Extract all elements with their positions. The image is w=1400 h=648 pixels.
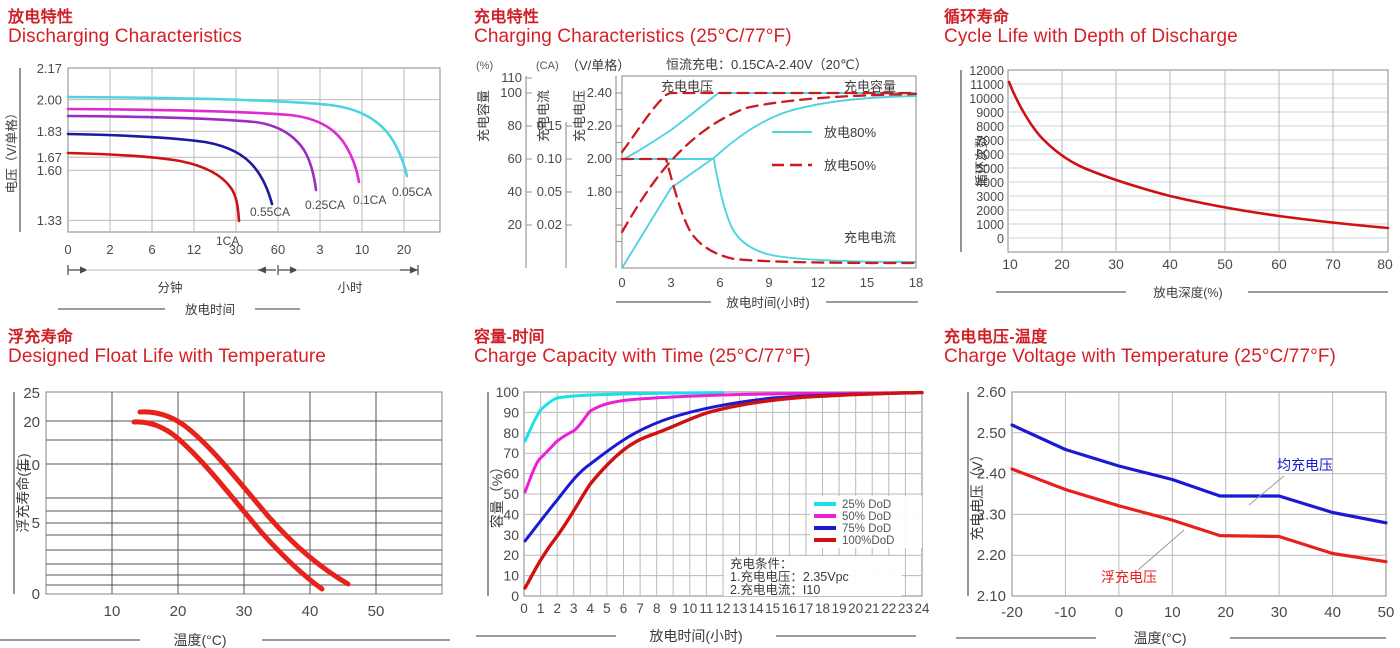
panel-discharging-characteristics: 放电特性 Discharging Characteristics <box>0 0 466 320</box>
legend: 25% DoD 50% DoD 75% DoD 100%DoD <box>810 496 922 548</box>
charge-condition-note: 充电条件： 1.充电电压：2.35Vpc 2.充电电流：I10 <box>724 556 902 597</box>
legend-label-0: 放电80% <box>824 125 876 140</box>
svg-text:0.10: 0.10 <box>537 151 562 166</box>
svg-text:60: 60 <box>503 466 519 482</box>
svg-text:2000: 2000 <box>976 204 1004 218</box>
legend-label-0: 25% DoD <box>842 499 891 511</box>
panel-title-en: Charge Capacity with Time (25°C/77°F) <box>474 346 811 368</box>
svg-text:19: 19 <box>832 601 847 616</box>
svg-text:0: 0 <box>618 275 625 290</box>
svg-text:80: 80 <box>508 118 522 133</box>
y-axis-ticks: 2.17 2.00 1.83 1.67 1.60 1.33 <box>37 61 62 228</box>
legend-label-1: 放电50% <box>824 158 876 173</box>
svg-text:1CA: 1CA <box>216 234 239 248</box>
svg-text:0.15: 0.15 <box>537 118 562 133</box>
svg-text:2.40: 2.40 <box>587 85 612 100</box>
svg-text:4: 4 <box>587 601 595 616</box>
chart-charge-capacity: 100 90 80 70 60 50 40 30 20 10 0 0 1 2 3… <box>466 378 936 648</box>
svg-text:11: 11 <box>699 601 713 616</box>
panel-charging-characteristics: 充电特性 Charging Characteristics (25°C/77°F… <box>466 0 936 320</box>
y-axis-2-name: 充电电流 <box>536 90 551 142</box>
svg-text:-20: -20 <box>1001 604 1023 621</box>
x-axis-ticks: 0 1 2 3 4 5 6 7 8 9 10 11 12 13 14 15 16… <box>520 601 930 616</box>
svg-text:21: 21 <box>865 601 880 616</box>
svg-text:20: 20 <box>503 547 519 563</box>
x-axis-label: 放电时间 <box>185 302 235 317</box>
x-axis-ticks: 10 20 30 40 50 <box>104 603 385 620</box>
svg-text:2: 2 <box>106 242 113 257</box>
svg-text:24: 24 <box>914 601 930 616</box>
svg-text:2.50: 2.50 <box>977 425 1006 442</box>
svg-text:12: 12 <box>187 242 201 257</box>
svg-text:2.20: 2.20 <box>587 118 612 133</box>
panel-title-cn: 循环寿命 <box>944 3 1009 27</box>
svg-text:40: 40 <box>1324 604 1341 621</box>
svg-text:30: 30 <box>236 603 253 620</box>
svg-text:30: 30 <box>1271 604 1288 621</box>
annotation-charge-voltage: 充电电压 <box>661 79 713 94</box>
svg-text:90: 90 <box>503 404 519 420</box>
svg-text:0: 0 <box>64 242 71 257</box>
svg-text:0.05: 0.05 <box>537 184 562 199</box>
svg-text:60: 60 <box>508 151 522 166</box>
svg-text:3: 3 <box>316 242 323 257</box>
gridlines-vertical <box>1065 392 1332 596</box>
legend: 放电80% 放电50% <box>772 125 876 173</box>
svg-text:10: 10 <box>1002 256 1018 272</box>
svg-text:15: 15 <box>765 601 780 616</box>
svg-text:100: 100 <box>500 85 522 100</box>
svg-text:20: 20 <box>1054 256 1070 272</box>
range-indicators <box>68 265 418 275</box>
svg-text:40: 40 <box>503 506 519 522</box>
svg-text:16: 16 <box>782 601 797 616</box>
panel-charge-capacity: 容量-时间 Charge Capacity with Time (25°C/77… <box>466 320 936 648</box>
svg-text:0.55CA: 0.55CA <box>250 205 290 219</box>
panel-title-cn: 充电特性 <box>474 3 539 27</box>
svg-text:20: 20 <box>848 601 863 616</box>
y-axis-voltage-tickmarks <box>616 93 622 242</box>
panel-cycle-life: 循环寿命 Cycle Life with Depth of Discharge … <box>936 0 1400 320</box>
svg-text:50: 50 <box>503 486 519 502</box>
svg-text:20: 20 <box>397 242 411 257</box>
svg-text:6: 6 <box>148 242 155 257</box>
svg-text:1.60: 1.60 <box>37 163 62 178</box>
annotation-charge-capacity: 充电容量 <box>844 79 896 94</box>
svg-text:13: 13 <box>732 601 747 616</box>
svg-text:1.83: 1.83 <box>37 124 62 139</box>
svg-text:0.1CA: 0.1CA <box>353 193 386 207</box>
legend-label-1: 50% DoD <box>842 511 891 523</box>
svg-text:7: 7 <box>636 601 644 616</box>
svg-text:5: 5 <box>603 601 611 616</box>
svg-text:10: 10 <box>1164 604 1181 621</box>
svg-text:30: 30 <box>503 527 519 543</box>
svg-text:10: 10 <box>503 568 519 584</box>
svg-text:2.20: 2.20 <box>977 547 1006 564</box>
curve-cycle-life <box>1009 82 1388 228</box>
svg-text:0: 0 <box>1115 604 1123 621</box>
svg-text:0.05CA: 0.05CA <box>392 185 432 199</box>
svg-text:40: 40 <box>508 184 522 199</box>
gridlines-horizontal <box>1008 84 1388 238</box>
note-line-0: 充电条件： <box>730 556 793 571</box>
svg-text:6: 6 <box>716 275 723 290</box>
svg-text:11000: 11000 <box>970 78 1004 92</box>
svg-text:18: 18 <box>815 601 830 616</box>
svg-text:30: 30 <box>1108 256 1124 272</box>
annotation-float: 浮充电压 <box>1101 530 1184 585</box>
x-axis-label: 温度(°C) <box>173 632 226 648</box>
curve-055ca <box>68 134 272 204</box>
svg-text:20: 20 <box>170 603 187 620</box>
y-axis-3-name: 充电电压 <box>572 90 587 142</box>
svg-text:40: 40 <box>302 603 319 620</box>
panel-title-cn: 放电特性 <box>8 3 73 27</box>
annotation-charge-current: 充电电流 <box>844 230 896 245</box>
x-axis-label: 放电深度(%) <box>1153 285 1222 300</box>
svg-text:12000: 12000 <box>969 64 1004 78</box>
svg-text:25: 25 <box>23 385 40 402</box>
charts-grid: 放电特性 Discharging Characteristics <box>0 0 1400 648</box>
svg-text:50: 50 <box>1378 604 1395 621</box>
svg-text:2: 2 <box>553 601 561 616</box>
curve-float-voltage <box>1012 469 1386 562</box>
svg-text:-10: -10 <box>1055 604 1077 621</box>
plot-frame <box>1012 392 1386 596</box>
svg-text:23: 23 <box>898 601 913 616</box>
y-axis-label: 电压（V/单格） <box>4 107 19 194</box>
svg-text:110: 110 <box>501 70 522 85</box>
svg-text:1.80: 1.80 <box>587 184 612 199</box>
chart-float-life: 25 20 10 5 0 10 20 30 40 50 浮充寿命(年) 温度(°… <box>0 378 466 648</box>
svg-text:40: 40 <box>1162 256 1178 272</box>
svg-text:0: 0 <box>520 601 528 616</box>
svg-text:0: 0 <box>511 588 519 604</box>
x-axis-ticks: -20 -10 0 10 20 30 40 50 <box>1001 604 1394 621</box>
svg-text:1000: 1000 <box>976 218 1004 232</box>
svg-text:0.02: 0.02 <box>537 217 562 232</box>
panel-title-en: Cycle Life with Depth of Discharge <box>944 26 1238 48</box>
svg-text:2.17: 2.17 <box>37 61 62 76</box>
curve-1ca <box>68 153 239 221</box>
x-axis-label: 放电时间(小时) <box>726 295 809 310</box>
svg-text:（V/单格）: （V/单格） <box>566 58 630 73</box>
svg-text:9: 9 <box>765 275 772 290</box>
svg-text:15: 15 <box>860 275 874 290</box>
y-axis-label: 充电电压（V） <box>969 447 985 540</box>
svg-text:8: 8 <box>653 601 661 616</box>
svg-text:9: 9 <box>669 601 677 616</box>
svg-text:60: 60 <box>1271 256 1287 272</box>
note-line-1: 1.充电电压：2.35Vpc <box>730 569 849 584</box>
y-axis-voltage-ticks: 2.40 2.20 2.00 1.80 <box>587 85 612 199</box>
panel-float-life: 浮充寿命 Designed Float Life with Temperatur… <box>0 320 466 648</box>
svg-text:9000: 9000 <box>976 106 1004 120</box>
svg-text:(%): (%) <box>476 60 493 72</box>
svg-text:3: 3 <box>570 601 578 616</box>
x-axis-ticks: 0 3 6 9 12 15 18 <box>618 275 923 290</box>
svg-text:3000: 3000 <box>976 190 1004 204</box>
svg-text:17: 17 <box>798 601 813 616</box>
y-axis-label: 循环次数 <box>974 135 989 187</box>
y-axis-label: 容量（%） <box>489 460 505 528</box>
panel-charge-voltage-temperature: 充电电压-温度 Charge Voltage with Temperature … <box>936 320 1400 648</box>
xband-right-label: 小时 <box>337 281 363 295</box>
svg-text:60: 60 <box>271 242 285 257</box>
xband-left-label: 分钟 <box>157 280 182 295</box>
svg-text:3: 3 <box>667 275 674 290</box>
svg-text:14: 14 <box>749 601 765 616</box>
svg-text:2.00: 2.00 <box>37 93 62 108</box>
svg-text:20: 20 <box>508 217 522 232</box>
svg-text:20: 20 <box>23 414 40 431</box>
svg-text:2.10: 2.10 <box>977 588 1006 605</box>
axis-units: (%) (CA) （V/单格） <box>476 58 630 73</box>
svg-text:12: 12 <box>715 601 730 616</box>
curve-50-current <box>622 159 916 263</box>
gridlines-vertical <box>1062 70 1333 252</box>
svg-text:80: 80 <box>503 425 519 441</box>
panel-title-cn: 浮充寿命 <box>8 323 73 347</box>
svg-text:1.33: 1.33 <box>37 213 62 228</box>
svg-text:22: 22 <box>881 601 896 616</box>
curve-50-voltage <box>622 93 916 152</box>
chart-charge-voltage: 2.60 2.50 2.40 2.30 2.20 2.10 -20 -10 0 … <box>936 378 1400 648</box>
chart-charging: 恒流充电：0.15CA-2.40V（20℃） (%) (CA) （V/单格） 充… <box>466 56 936 318</box>
svg-text:6: 6 <box>620 601 628 616</box>
svg-text:70: 70 <box>503 445 519 461</box>
svg-text:80: 80 <box>1377 256 1393 272</box>
x-axis-label: 放电时间(小时) <box>649 628 742 644</box>
annotation-equalize: 均充电压 <box>1249 457 1333 505</box>
svg-text:10: 10 <box>104 603 121 620</box>
panel-title-en: Charging Characteristics (25°C/77°F) <box>474 26 792 48</box>
svg-text:0: 0 <box>997 232 1004 246</box>
svg-text:(CA): (CA) <box>536 60 559 72</box>
panel-title-en: Charge Voltage with Temperature (25°C/77… <box>944 346 1336 368</box>
y-axis-capacity-ticks: 110 100 80 60 40 20 <box>500 70 522 232</box>
y-axis-label: 浮充寿命(年) <box>15 453 31 532</box>
constant-current-note: 恒流充电：0.15CA-2.40V（20℃） <box>666 57 868 72</box>
legend-label-3: 100%DoD <box>842 535 894 547</box>
svg-text:0.25CA: 0.25CA <box>305 198 345 212</box>
y-axis-1-name: 充电容量 <box>476 90 491 142</box>
svg-text:2.00: 2.00 <box>587 151 612 166</box>
svg-text:10: 10 <box>682 601 697 616</box>
panel-title-cn: 充电电压-温度 <box>944 323 1047 347</box>
x-axis-ticks: 10 20 30 40 50 60 70 80 <box>1002 256 1393 272</box>
svg-text:1: 1 <box>537 601 545 616</box>
y-axis-capacity-tickmarks <box>526 78 532 225</box>
svg-text:18: 18 <box>909 275 923 290</box>
panel-title-cn: 容量-时间 <box>474 323 545 347</box>
svg-text:10: 10 <box>355 242 369 257</box>
svg-text:0: 0 <box>32 586 40 603</box>
plot-frame <box>1008 70 1388 252</box>
chart-discharging: 2.17 2.00 1.83 1.67 1.60 1.33 0 2 6 12 3… <box>0 56 466 318</box>
panel-title-en: Discharging Characteristics <box>8 26 242 48</box>
svg-text:70: 70 <box>1325 256 1341 272</box>
curve-labels: 1CA 0.55CA 0.25CA 0.1CA 0.05CA <box>216 185 432 248</box>
svg-text:5: 5 <box>32 515 40 532</box>
svg-text:8000: 8000 <box>976 120 1004 134</box>
chart-cycle-life: 12000 11000 10000 9000 8000 7000 6000 50… <box>936 56 1400 318</box>
svg-text:2.60: 2.60 <box>977 384 1006 401</box>
svg-text:10000: 10000 <box>969 92 1004 106</box>
annotation-float-label: 浮充电压 <box>1101 569 1157 585</box>
note-line-2: 2.充电电流：I10 <box>730 582 820 597</box>
curve-80-current <box>622 159 916 262</box>
svg-text:50: 50 <box>1217 256 1233 272</box>
svg-text:100: 100 <box>496 384 520 400</box>
x-axis-label: 温度(°C) <box>1133 630 1186 646</box>
panel-title-en: Designed Float Life with Temperature <box>8 346 326 368</box>
svg-text:12: 12 <box>811 275 825 290</box>
svg-text:50: 50 <box>368 603 385 620</box>
legend-label-2: 75% DoD <box>842 523 891 535</box>
svg-text:20: 20 <box>1217 604 1234 621</box>
annotation-equalize-label: 均充电压 <box>1277 457 1333 473</box>
